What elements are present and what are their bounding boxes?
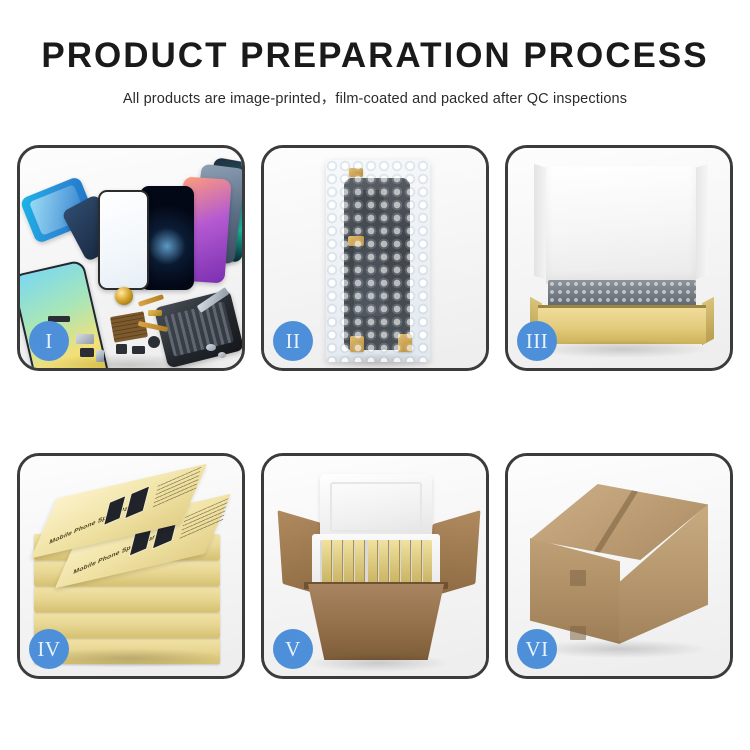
kraft-boxes-inside-image [320,540,432,582]
step-badge-5: V [273,629,313,669]
kraft-box-front-image [538,308,706,344]
foam-lid-right-image [694,164,708,280]
phone-thumbnail [124,485,150,519]
tape-piece-image [350,336,364,352]
wrapped-part-image [344,178,410,350]
camera-lens-image [115,287,133,305]
page-subtitle: All products are image-printed，film-coat… [0,87,750,108]
process-grid: I II III [17,145,733,679]
step-panel-bubble-wrap[interactable]: II [261,145,489,371]
step-badge-6: VI [517,629,557,669]
step-panel-foam-carton[interactable]: V [261,453,489,679]
flex-cable-image [138,294,164,307]
step-panel-sealed-carton[interactable]: VI [505,453,733,679]
chip-image [80,348,94,357]
tempered-glass-image [98,190,149,290]
chip-image [76,334,94,344]
tape-piece-image [398,334,412,352]
step-badge-4: IV [29,629,69,669]
foam-lid-image [546,166,696,284]
chip-image [148,310,162,316]
step-panel-inner-box[interactable]: III [505,145,733,371]
screw-image [218,352,226,358]
chip-image [116,344,127,354]
carton-tab-image [570,626,586,640]
chip-image [132,346,145,354]
foam-lid-image [320,474,432,540]
chip-image [96,350,104,362]
tape-piece-image [349,168,363,177]
page-title: PRODUCT PREPARATION PROCESS [0,38,750,73]
tape-piece-image [348,236,364,246]
carton-body-image [308,584,444,660]
step-badge-3: III [517,321,557,361]
screw-image [206,344,216,351]
logic-board-image [110,311,148,343]
step-panel-parts-overview[interactable]: I [17,145,245,371]
page-header: PRODUCT PREPARATION PROCESS All products… [0,0,750,108]
step-panel-boxed-stack[interactable]: Mobile Phone Spare Parts Mobile Phone Sp… [17,453,245,679]
step-badge-1: I [29,321,69,361]
speaker-image [148,336,160,348]
carton-tab-image [570,570,586,586]
step-badge-2: II [273,321,313,361]
kraft-box-layer [34,586,220,612]
